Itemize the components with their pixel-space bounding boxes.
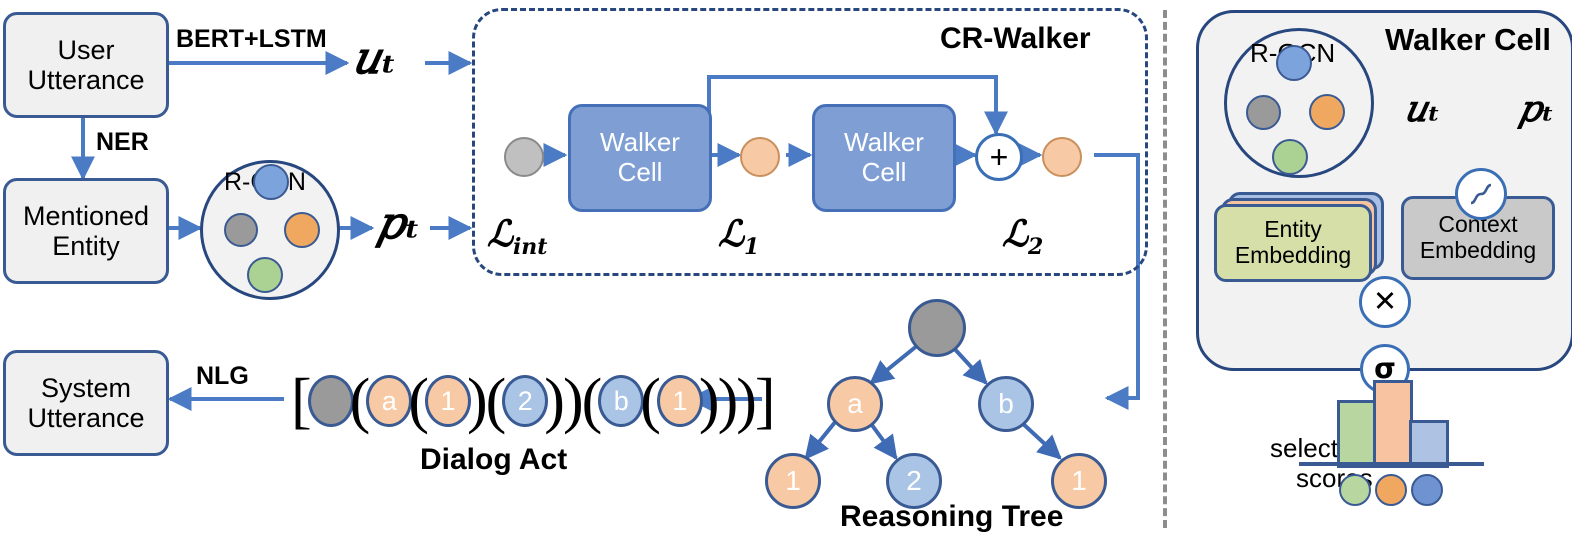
crwalker-input-node (504, 137, 544, 177)
plus-symbol: + (990, 141, 1009, 173)
score-bar (1409, 420, 1449, 468)
dialog-act-node: 1 (657, 375, 703, 427)
dialog-act-bracket: ) (699, 370, 720, 432)
bert-lstm-edge-label: BERT+LSTM (176, 25, 327, 54)
walker-cell-label-2: Walker Cell (844, 128, 924, 187)
dialog-act-node: 2 (502, 375, 548, 427)
rgcn-right-source-node (1246, 95, 1281, 130)
rgcn-right-blue-node (1276, 45, 1312, 81)
dialog-act-bracket: ) (467, 370, 488, 432)
loss-int-label: ℒint (487, 213, 547, 260)
crwalker-mid-node (740, 137, 780, 177)
dialog-act-node: 1 (425, 375, 471, 427)
vertical-divider (1163, 10, 1167, 528)
entity-embedding-label: Entity Embedding (1235, 217, 1351, 269)
loss-2-script: ℒ (1002, 213, 1028, 255)
reasoning-tree-node: 1 (765, 453, 821, 509)
walker-cell-panel-title: Walker Cell (1385, 22, 1551, 58)
user-utterance-label: User Utterance (27, 35, 144, 95)
system-utterance-label: System Utterance (27, 373, 144, 433)
crwalker-output-node (1042, 137, 1082, 177)
sigma-symbol: σ (1374, 355, 1396, 383)
mentioned-entity-label: Mentioned Entity (23, 201, 149, 261)
score-axis (1299, 462, 1484, 466)
rgcn-blue-node (253, 164, 289, 200)
loss-2-subscript: 2 (1028, 234, 1043, 260)
context-embedding-label: Context Embedding (1420, 212, 1536, 264)
loss-2-label: ℒ2 (1002, 213, 1043, 260)
reasoning-tree-node: a (827, 376, 883, 432)
diagram-canvas: User Utterance Mentioned Entity System U… (0, 0, 1572, 538)
dialog-act-node: a (366, 375, 412, 427)
sigmoid-curve-icon (1467, 180, 1495, 208)
score-legend-dot (1411, 474, 1443, 506)
dialog-act-bracket: ) (563, 370, 584, 432)
multiply-operator: ✕ (1359, 276, 1411, 328)
u-t-symbol: 𝑢ₜ (352, 33, 397, 84)
reasoning-tree-caption: Reasoning Tree (840, 500, 1063, 534)
system-utterance-box: System Utterance (3, 350, 169, 456)
dialog-act-bracket: ) (544, 370, 565, 432)
dialog-act-bracket: ) (718, 370, 739, 432)
reasoning-tree-node (908, 299, 966, 357)
dialog-act-node (308, 375, 354, 427)
u-t-cell-symbol: 𝑢ₜ (1404, 88, 1441, 130)
rgcn-right-orange-node (1309, 94, 1345, 130)
ner-edge-label: NER (96, 128, 149, 157)
mentioned-entity-box: Mentioned Entity (3, 178, 169, 284)
loss-1-script: ℒ (718, 213, 744, 255)
reasoning-tree-node: b (978, 376, 1034, 432)
p-t-symbol: 𝑝ₜ (376, 198, 420, 249)
user-utterance-box: User Utterance (3, 12, 169, 118)
entity-embedding-card-front: Entity Embedding (1214, 204, 1372, 282)
cr-walker-title: CR-Walker (940, 22, 1091, 56)
dialog-act-bracket: ) (736, 370, 757, 432)
rgcn-right-green-node (1272, 139, 1308, 175)
score-bar (1373, 380, 1413, 468)
dialog-act-caption: Dialog Act (420, 443, 567, 477)
nlg-edge-label: NLG (196, 362, 249, 391)
p-t-cell-symbol: 𝑝ₜ (1518, 88, 1554, 130)
walker-cell-block-1: Walker Cell (568, 104, 712, 212)
sigmoid-gate-icon (1455, 168, 1507, 220)
walker-cell-block-2: Walker Cell (812, 104, 956, 212)
loss-1-subscript: 1 (744, 234, 759, 260)
loss-int-subscript: int (513, 234, 548, 260)
score-bar (1337, 400, 1377, 468)
dialog-act-sequence: [(a(1)(2))(b(1)))] (292, 370, 775, 432)
rgcn-green-node (247, 257, 283, 293)
multiply-symbol: ✕ (1373, 288, 1397, 317)
rgcn-orange-node (284, 212, 320, 248)
plus-operator: + (975, 133, 1023, 181)
loss-int-script: ℒ (487, 213, 513, 255)
dialog-act-bracket: ] (755, 370, 776, 432)
loss-1-label: ℒ1 (718, 213, 759, 260)
dialog-act-node: b (598, 375, 644, 427)
score-legend-dot (1339, 474, 1371, 506)
rgcn-source-node (224, 213, 258, 247)
score-legend-dot (1375, 474, 1407, 506)
walker-cell-label-1: Walker Cell (600, 128, 680, 187)
